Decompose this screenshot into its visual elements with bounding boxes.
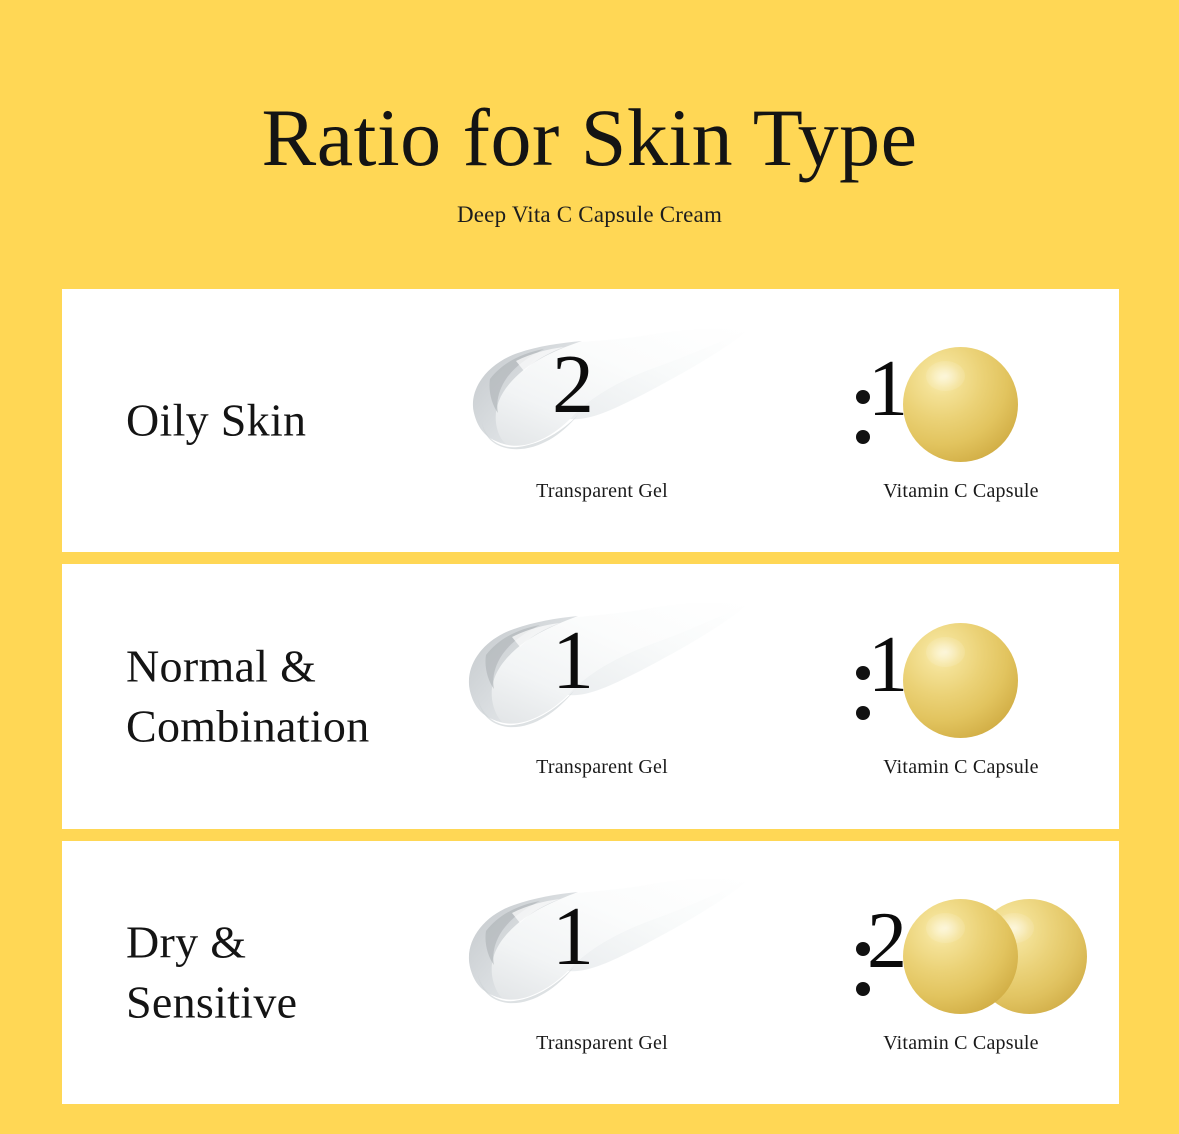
skin-type-label: Dry & Sensitive bbox=[126, 912, 297, 1033]
gel-caption: Transparent Gel bbox=[442, 1032, 762, 1055]
transparent-gel-group: 2 Transparent Gel bbox=[442, 321, 762, 521]
ratio-card-list: Oily Skin bbox=[62, 289, 1119, 1116]
page-subtitle: Deep Vita C Capsule Cream bbox=[0, 202, 1179, 228]
gel-ratio-value: 1 bbox=[452, 895, 752, 979]
capsule-caption: Vitamin C Capsule bbox=[811, 480, 1111, 503]
gel-ratio-value: 2 bbox=[452, 343, 752, 427]
ratio-visual: 1 Transparent Gel 2 Vitamin C Capsule bbox=[442, 841, 1119, 1104]
capsule-ratio-value: 2 bbox=[811, 901, 1021, 981]
header: Ratio for Skin Type Deep Vita C Capsule … bbox=[0, 0, 1179, 228]
ratio-visual: 1 Transparent Gel 1 Vitamin C Capsule bbox=[442, 564, 1119, 829]
gel-caption: Transparent Gel bbox=[442, 756, 762, 779]
capsule-ratio-value: 1 bbox=[811, 349, 1021, 429]
ratio-visual: 2 Transparent Gel 1 Vitamin C Capsule bbox=[442, 289, 1119, 552]
page-title: Ratio for Skin Type bbox=[0, 96, 1179, 180]
gel-caption: Transparent Gel bbox=[442, 480, 762, 503]
infographic-page: Ratio for Skin Type Deep Vita C Capsule … bbox=[0, 0, 1179, 1134]
capsule-caption: Vitamin C Capsule bbox=[811, 1032, 1111, 1055]
skin-type-label: Normal & Combination bbox=[126, 636, 370, 757]
ratio-row-dry-sensitive: Dry & Sensitive bbox=[62, 841, 1119, 1104]
vitamin-c-capsule-group: 2 Vitamin C Capsule bbox=[811, 873, 1111, 1073]
transparent-gel-group: 1 Transparent Gel bbox=[442, 873, 762, 1073]
vitamin-c-capsule-group: 1 Vitamin C Capsule bbox=[811, 597, 1111, 797]
vitamin-c-capsule-group: 1 Vitamin C Capsule bbox=[811, 321, 1111, 521]
transparent-gel-group: 1 Transparent Gel bbox=[442, 597, 762, 797]
capsule-caption: Vitamin C Capsule bbox=[811, 756, 1111, 779]
ratio-row-normal-combination: Normal & Combination bbox=[62, 564, 1119, 829]
ratio-row-oily-skin: Oily Skin bbox=[62, 289, 1119, 552]
gel-ratio-value: 1 bbox=[452, 619, 752, 703]
skin-type-label: Oily Skin bbox=[126, 390, 306, 451]
capsule-ratio-value: 1 bbox=[811, 625, 1021, 705]
